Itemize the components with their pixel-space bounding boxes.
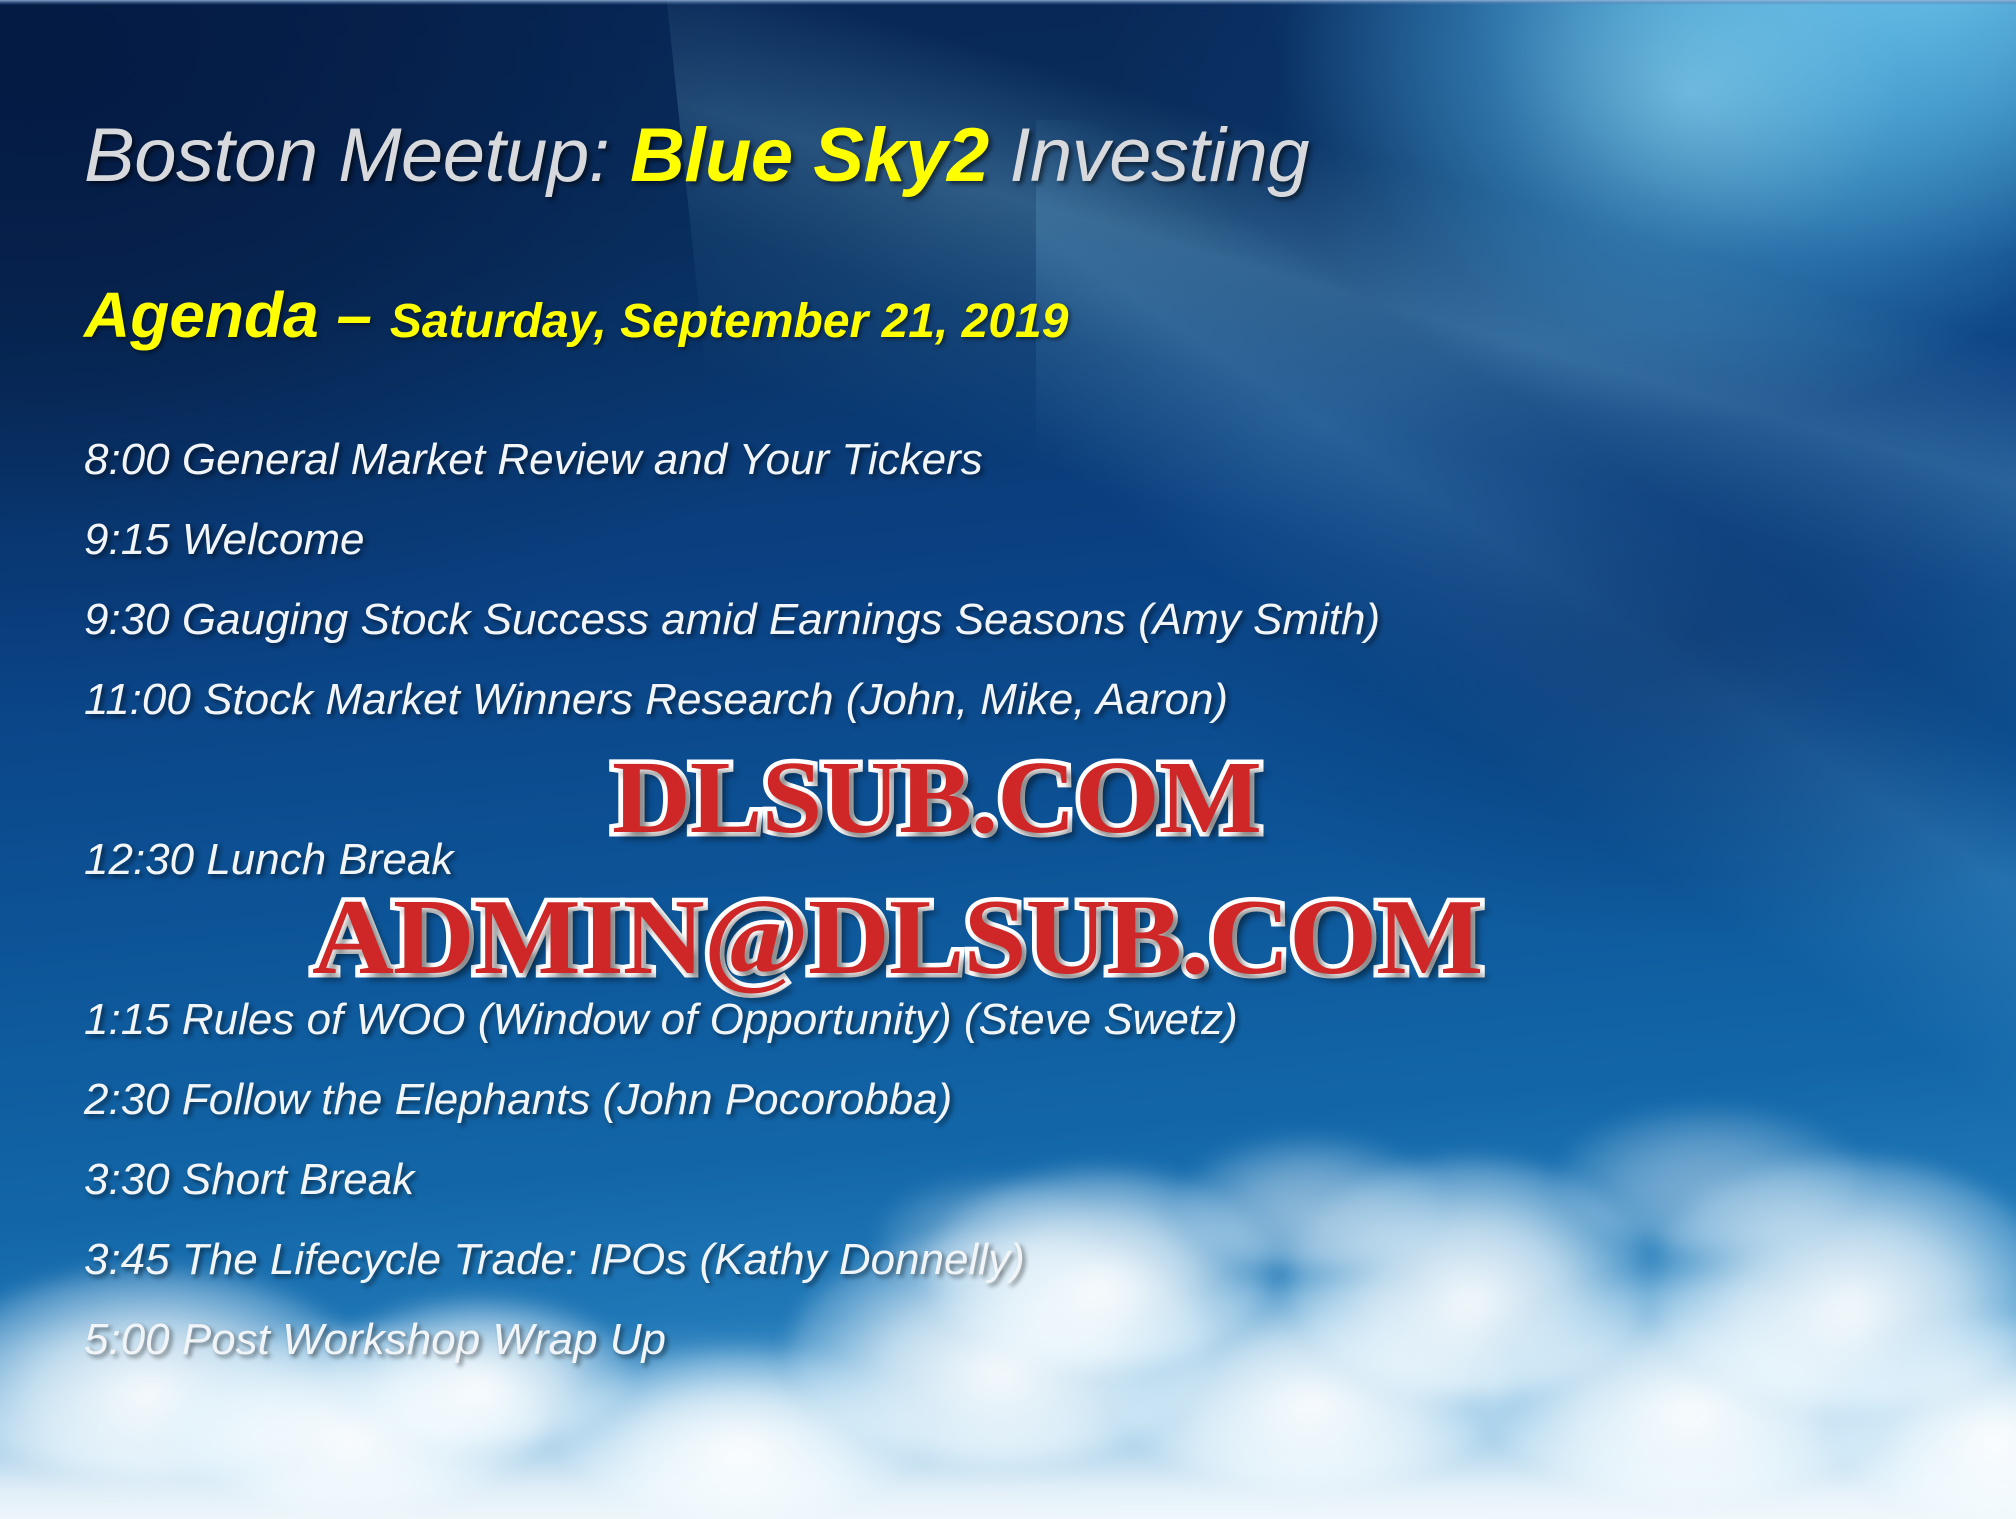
watermark-email: ADMIN@DLSUB.COM <box>312 876 1482 1000</box>
agenda-subtitle: Agenda – Saturday, September 21, 2019 <box>84 278 1068 352</box>
title-highlight: Blue Sky2 <box>630 113 989 198</box>
agenda-date: Saturday, September 21, 2019 <box>390 295 1069 348</box>
watermark-site-url: DLSUB.COM <box>612 738 1261 857</box>
agenda-item: 3:30 Short Break <box>84 1158 1884 1238</box>
agenda-item: 8:00 General Market Review and Your Tick… <box>84 438 1884 518</box>
title-prefix: Boston Meetup: <box>84 113 630 198</box>
agenda-item: 1:15 Rules of WOO (Window of Opportunity… <box>84 998 1884 1078</box>
title-suffix: Investing <box>989 113 1309 198</box>
agenda-item: 9:15 Welcome <box>84 518 1884 598</box>
slide-title: Boston Meetup: Blue Sky2 Investing <box>84 112 1309 199</box>
agenda-item: 2:30 Follow the Elephants (John Pocorobb… <box>84 1078 1884 1158</box>
agenda-item: 9:30 Gauging Stock Success amid Earnings… <box>84 598 1884 678</box>
agenda-label: Agenda – <box>84 279 390 351</box>
agenda-item: 5:00 Post Workshop Wrap Up <box>84 1318 1884 1398</box>
agenda-item: 3:45 The Lifecycle Trade: IPOs (Kathy Do… <box>84 1238 1884 1318</box>
presentation-slide: Boston Meetup: Blue Sky2 Investing Agend… <box>0 0 2016 1519</box>
